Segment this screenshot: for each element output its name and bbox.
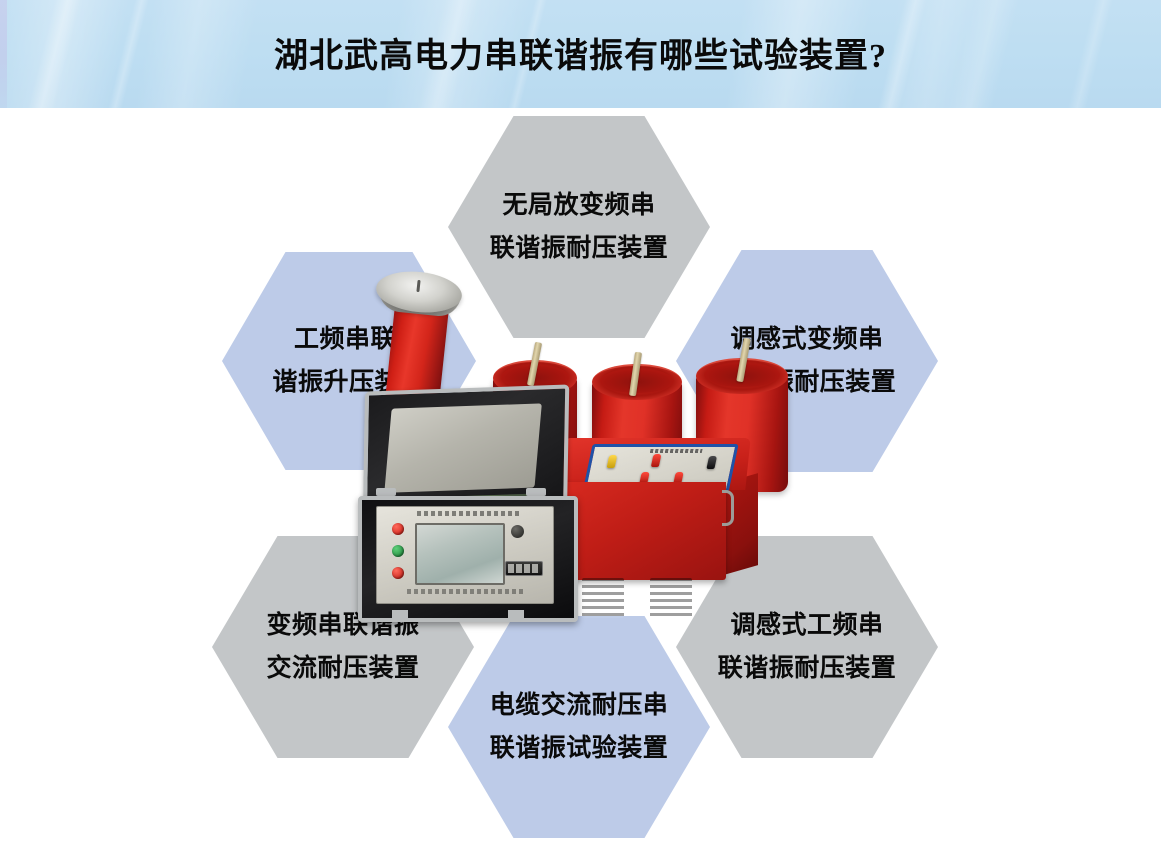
control-panel-title-text bbox=[417, 511, 521, 516]
terminal-post-yellow bbox=[607, 455, 618, 468]
lcd-screen bbox=[415, 523, 505, 585]
case-base bbox=[358, 496, 578, 622]
case-foot-right bbox=[508, 610, 524, 622]
exciter-handle-right bbox=[722, 490, 734, 526]
ventilation-grille bbox=[650, 578, 692, 618]
hexagon-label-line1: 电缆交流耐压串 bbox=[490, 684, 669, 727]
hexagon-label-line2: 联谐振试验装置 bbox=[490, 727, 669, 770]
case-latch-right bbox=[526, 488, 546, 496]
exciter-transformer-box bbox=[558, 438, 758, 590]
control-panel bbox=[376, 506, 554, 604]
hexagon-label-line2: 联谐振耐压装置 bbox=[490, 227, 669, 270]
case-foot-left bbox=[392, 610, 408, 622]
slide-page: 湖北武高电力串联谐振有哪些试验装置? 无局放变频串 联谐振耐压装置 工频串联 谐… bbox=[0, 0, 1161, 841]
rotary-knob bbox=[511, 525, 524, 538]
case-latch-left bbox=[376, 488, 396, 496]
terminal-post-black bbox=[706, 456, 717, 469]
control-button-red-bottom bbox=[392, 567, 404, 579]
case-lid-inner-plate bbox=[384, 403, 542, 492]
control-button-green bbox=[392, 545, 404, 557]
hexagon-label-line1: 无局放变频串 bbox=[502, 184, 655, 227]
ventilation-grille bbox=[582, 578, 624, 618]
terminal-post-red bbox=[651, 454, 662, 467]
control-panel-brand-text bbox=[407, 589, 523, 594]
header-banner: 湖北武高电力串联谐振有哪些试验装置? bbox=[0, 0, 1161, 108]
hexagon-diagram: 无局放变频串 联谐振耐压装置 工频串联 谐振升压装置 调感式变频串 联谐振耐压装… bbox=[0, 108, 1161, 841]
variable-frequency-control-case bbox=[358, 388, 574, 620]
equipment-photo bbox=[330, 268, 850, 688]
page-title: 湖北武高电力串联谐振有哪些试验装置? bbox=[0, 28, 1161, 77]
panel-label-text bbox=[650, 449, 703, 453]
exciter-front-face bbox=[558, 482, 726, 580]
control-button-red-top bbox=[392, 523, 404, 535]
digital-meter bbox=[505, 561, 543, 576]
